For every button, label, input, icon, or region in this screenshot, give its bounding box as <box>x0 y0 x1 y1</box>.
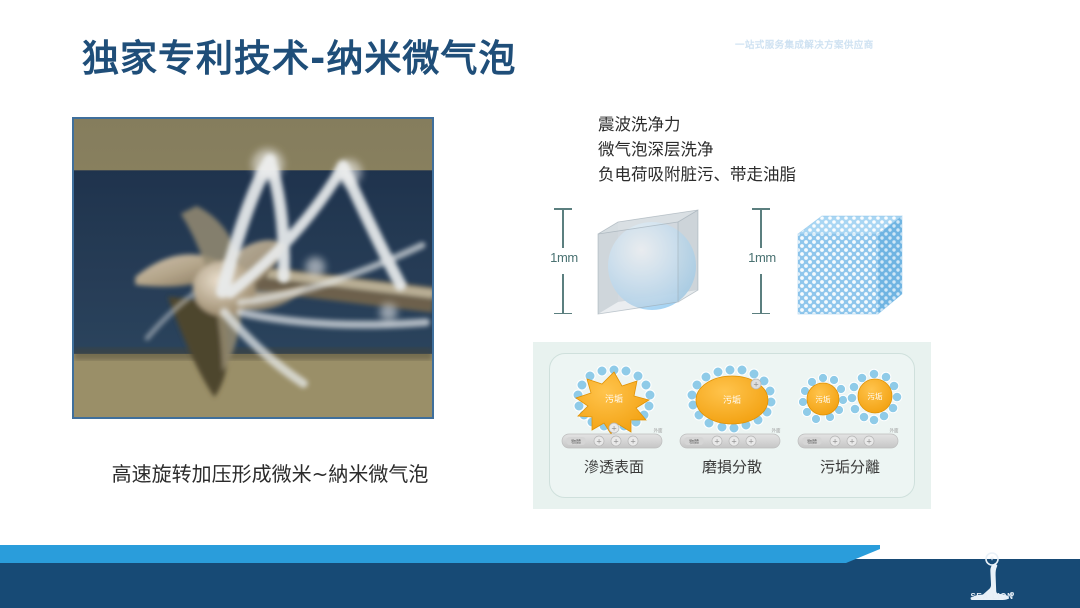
dimension-label: 1mm <box>545 250 583 265</box>
substrate-label: 物體 <box>807 439 817 446</box>
stage-label: 污垢分離 <box>790 456 910 477</box>
micro-bubble-cube-diagram: 1mm <box>744 202 924 320</box>
dimension-marker-left: 1mm <box>546 208 580 314</box>
charge-sign: + <box>753 381 759 389</box>
dimension-cap-bottom <box>554 313 572 315</box>
stage-penetrate-graphic: 污垢 物體 + + + + 外面 <box>554 362 674 454</box>
photo-caption: 高速旋转加压形成微米~納米微气泡 <box>90 458 450 487</box>
slide-canvas: 独家专利技术-纳米微气泡 <box>0 0 1080 608</box>
charge-sign: + <box>849 438 855 446</box>
stage-separation-graphic: 污垢 污垢 物體 <box>790 362 910 454</box>
stage-label: 磨損分散 <box>672 456 792 477</box>
impeller-photo-image <box>74 119 432 417</box>
dimension-cap-top <box>554 208 572 210</box>
footer-blue-band <box>0 545 880 563</box>
footer-navy-band <box>0 559 1080 608</box>
bullet-line-1: 震波洗净力 <box>598 112 796 137</box>
bullet-line-3: 负电荷吸附脏污、带走油脂 <box>598 162 796 187</box>
single-bubble-cube-diagram: 1mm <box>546 202 726 320</box>
dirt-label: 污垢 <box>816 394 831 404</box>
cleaning-stages-card: 污垢 物體 + + + + 外面 <box>549 353 915 498</box>
footer-tagline: 一站式服务集成解决方案供应商 <box>735 37 874 51</box>
charge-sign: + <box>866 438 872 446</box>
stage-abrade-graphic: 污垢 + 物體 + + + 外面 <box>672 362 792 454</box>
surface-label: 外面 <box>772 427 781 434</box>
slide-footer <box>0 545 1080 608</box>
substrate-label: 物體 <box>689 439 699 446</box>
dimension-marker-right: 1mm <box>744 208 778 314</box>
dimension-cap-bottom <box>752 313 770 315</box>
stage-penetrate-surface: 污垢 物體 + + + + 外面 <box>554 362 674 494</box>
micro-bubble-cube-graphic <box>792 204 920 320</box>
stage-abrade-disperse: 污垢 + 物體 + + + 外面 磨損分散 <box>672 362 792 494</box>
stage-dirt-separation: 污垢 污垢 物體 <box>790 362 910 494</box>
dimension-label: 1mm <box>743 250 781 265</box>
dirt-label: 污垢 <box>605 393 623 405</box>
dirt-label: 污垢 <box>868 391 883 401</box>
charge-sign: + <box>613 438 619 446</box>
charge-sign: + <box>611 425 617 433</box>
dimension-cap-top <box>752 208 770 210</box>
charge-sign: + <box>832 438 838 446</box>
cleaning-stages-panel: 污垢 物體 + + + + 外面 <box>533 342 931 509</box>
bullet-line-2: 微气泡深层洗净 <box>598 137 796 162</box>
surface-label: 外面 <box>890 427 899 434</box>
charge-sign: + <box>714 438 720 446</box>
single-bubble-cube-graphic <box>594 204 718 320</box>
dirt-label: 污垢 <box>723 394 741 406</box>
impeller-photo <box>72 117 434 419</box>
charge-sign: + <box>748 438 754 446</box>
charge-sign: + <box>731 438 737 446</box>
brand-name: SEA-LION <box>957 592 1027 601</box>
page-title: 独家专利技术-纳米微气泡 <box>82 28 516 82</box>
charge-sign: + <box>596 438 602 446</box>
surface-label: 外面 <box>654 427 663 434</box>
stage-label: 滲透表面 <box>554 456 674 477</box>
charge-sign: + <box>630 438 636 446</box>
substrate-label: 物體 <box>571 439 581 446</box>
feature-bullet-list: 震波洗净力 微气泡深层洗净 负电荷吸附脏污、带走油脂 <box>598 112 796 187</box>
